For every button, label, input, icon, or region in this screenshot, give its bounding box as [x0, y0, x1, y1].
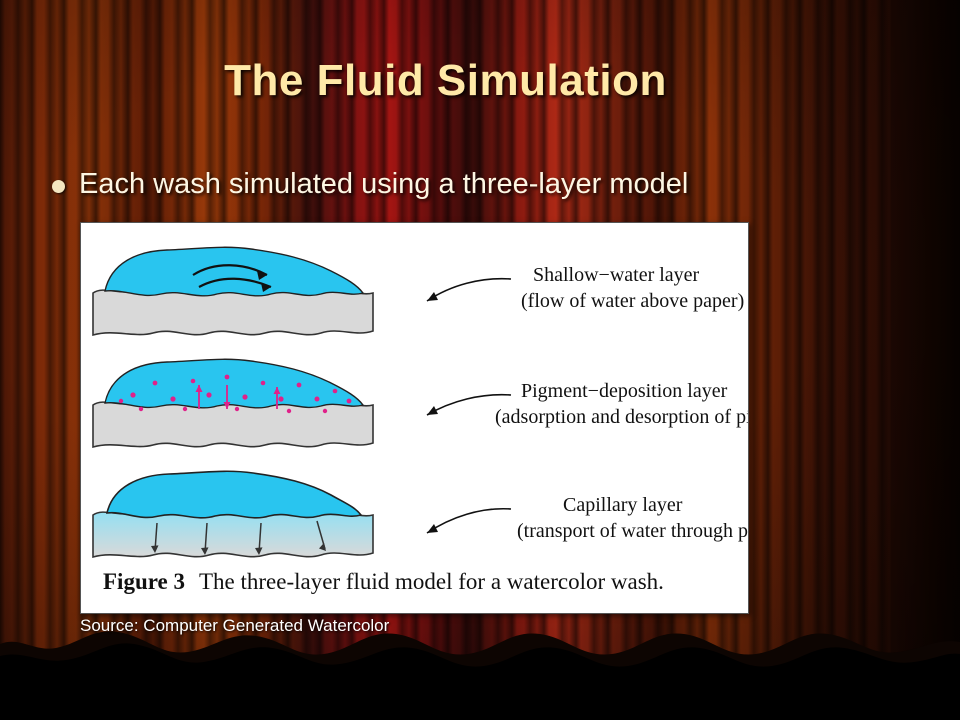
pigment-deposition-layer-title: Pigment−deposition layer [521, 380, 728, 402]
three-layer-fluid-diagram: Shallow−water layer (flow of water above… [81, 223, 748, 613]
bullet-dot-icon [52, 180, 65, 193]
bullet-item-label: Each wash simulated using a three-layer … [79, 168, 688, 201]
pigment-deposition-layer-subtitle: (adsorption and desorption of pigment) [495, 406, 748, 428]
capillary-layer-title: Capillary layer [563, 494, 683, 516]
page-title: The Fluid Simulation [0, 56, 891, 106]
shallow-water-layer-subtitle: (flow of water above paper) [521, 290, 744, 312]
capillary-layer-subtitle: (transport of water through pores) [517, 520, 748, 542]
source-caption: Source: Computer Generated Watercolor [80, 616, 389, 636]
bullet-item: Each wash simulated using a three-layer … [52, 168, 872, 201]
shallow-water-layer-title: Shallow−water layer [533, 264, 700, 286]
slide: The Fluid Simulation Each wash simulated… [0, 0, 960, 720]
figure-caption-label: Figure 3 [103, 569, 185, 594]
figure-image: Shallow−water layer (flow of water above… [80, 222, 749, 614]
figure-caption-text: The three-layer fluid model for a waterc… [199, 569, 664, 594]
